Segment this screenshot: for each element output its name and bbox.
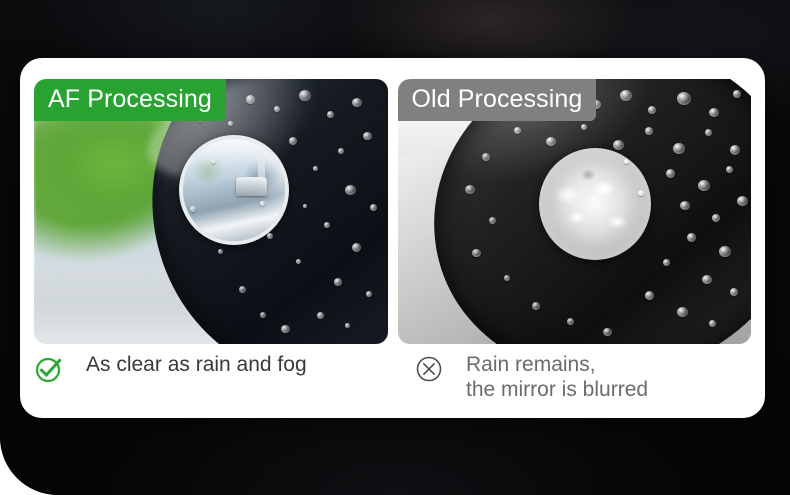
badge-af-processing: AF Processing [34,79,226,121]
af-blindspot-mirror [179,135,289,245]
badge-old-processing: Old Processing [398,79,597,121]
caption-af-text: As clear as rain and fog [86,352,307,378]
comparison-panels: AF Processing [34,79,751,344]
panel-old-processing: Old Processing [398,79,752,344]
panel-af-processing: AF Processing [34,79,388,344]
comparison-card: AF Processing [20,58,765,418]
af-mirror-highlight [244,135,289,245]
caption-row: As clear as rain and fog Rain remains, t… [34,352,751,410]
caption-old-processing: Rain remains, the mirror is blurred [414,352,751,410]
old-blindspot-mirror [539,148,651,260]
check-circle-icon [34,354,64,389]
caption-af-processing: As clear as rain and fog [34,352,414,410]
caption-old-text: Rain remains, the mirror is blurred [466,352,648,403]
cross-circle-icon [414,354,444,389]
image-backdrop: AF Processing [0,0,790,495]
old-mirror-water-smear [539,148,651,260]
